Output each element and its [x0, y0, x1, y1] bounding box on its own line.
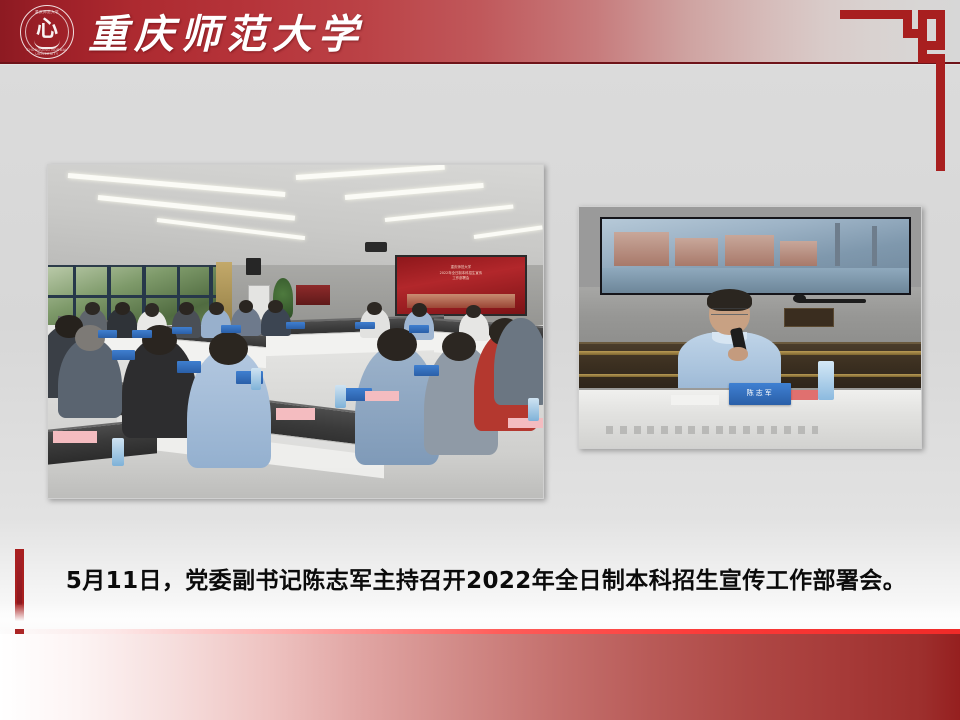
- person-head: [367, 302, 382, 315]
- emblem-center-glyph: 心: [36, 19, 58, 41]
- header-banner: 重庆师范大学 心 CHONGQING NORMAL UNIVERSITY 重庆师…: [0, 0, 960, 64]
- screen-building: [675, 238, 718, 266]
- water-bottle: [251, 368, 261, 390]
- name-card: [355, 322, 375, 329]
- desk-vent: [771, 426, 778, 433]
- person-head: [115, 302, 130, 315]
- desk-vent: [702, 426, 709, 433]
- desk-vent: [784, 426, 791, 433]
- desk-vent: [606, 426, 613, 433]
- screen-tower: [872, 226, 876, 266]
- person-head: [377, 328, 417, 361]
- emblem-microtext-bottom: CHONGQING NORMAL UNIVERSITY: [20, 48, 74, 56]
- person-head: [209, 332, 249, 365]
- desk-paper: [671, 395, 719, 405]
- speaker-hand: [728, 347, 749, 361]
- desk-vent: [716, 426, 723, 433]
- paper-document: [365, 391, 400, 401]
- water-bottle: [818, 361, 833, 400]
- name-card: [409, 325, 429, 333]
- university-emblem-icon: 重庆师范大学 心 CHONGQING NORMAL UNIVERSITY: [20, 5, 74, 59]
- water-bottle: [335, 385, 346, 408]
- screen-building: [780, 241, 817, 266]
- desk-vent: [661, 426, 668, 433]
- corner-ornament-top-right-icon: [840, 8, 948, 173]
- person-head: [412, 303, 427, 316]
- name-card: [221, 325, 241, 333]
- footer-gradient-band: [0, 634, 960, 720]
- caption-bar: 5月11日，党委副书记陈志军主持召开2022年全日制本科招生宣传工作部署会。: [0, 547, 960, 609]
- screen-building: [614, 232, 669, 266]
- water-bottle: [528, 398, 539, 421]
- desk-vent: [688, 426, 695, 433]
- screen-building: [725, 235, 774, 266]
- name-card: [98, 330, 118, 338]
- campus-projection-screen: [600, 217, 912, 296]
- meeting-room-photo: 重庆师范大学2022年全日制本科招生宣传工作部署会: [47, 164, 544, 499]
- desk-vent: [757, 426, 764, 433]
- screen-tower: [835, 223, 840, 266]
- desk-vent: [812, 426, 819, 433]
- water-bottle: [112, 438, 124, 466]
- desk-vent: [620, 426, 627, 433]
- paper-document: [53, 431, 98, 443]
- desk-vent: [634, 426, 641, 433]
- paper-document: [276, 408, 316, 420]
- person-head: [209, 302, 224, 315]
- name-card: [414, 365, 439, 376]
- window-mullion: [48, 295, 216, 298]
- desk-vent: [798, 426, 805, 433]
- speaker-photo: 陈志军: [578, 206, 922, 449]
- wall-banner: [296, 285, 331, 305]
- speaker-nameplate: 陈志军: [729, 383, 791, 405]
- person-head: [75, 325, 105, 352]
- person-head: [179, 302, 194, 315]
- emblem-microtext-top: 重庆师范大学: [20, 10, 74, 15]
- gooseneck-microphone: [798, 299, 866, 304]
- desk-vent: [675, 426, 682, 433]
- name-card: [286, 322, 306, 329]
- name-card: [132, 330, 152, 338]
- person-head: [145, 303, 160, 316]
- speaker-nameplate-text: 陈志军: [729, 388, 791, 398]
- speaker-glasses: [711, 308, 749, 315]
- projection-screen-text: 重庆师范大学2022年全日制本科招生宣传工作部署会: [404, 265, 517, 282]
- footer-white-gap: [0, 603, 960, 629]
- desk-vent: [743, 426, 750, 433]
- caption-accent-bar: [17, 555, 22, 605]
- wall-speaker: [246, 258, 261, 275]
- screen-water: [602, 268, 910, 293]
- name-card: [172, 327, 192, 335]
- caption-text: 5月11日，党委副书记陈志军主持召开2022年全日制本科招生宣传工作部署会。: [42, 547, 930, 609]
- desk-vent: [729, 426, 736, 433]
- desk-vent: [647, 426, 654, 433]
- slide-root: 重庆师范大学 心 CHONGQING NORMAL UNIVERSITY 重庆师…: [0, 0, 960, 720]
- ceiling-projector: [365, 242, 387, 252]
- page-title: 重庆师范大学: [88, 4, 364, 58]
- podium-box: [784, 308, 834, 327]
- name-card: [177, 361, 202, 372]
- name-card: [112, 350, 134, 360]
- person-head: [85, 302, 100, 315]
